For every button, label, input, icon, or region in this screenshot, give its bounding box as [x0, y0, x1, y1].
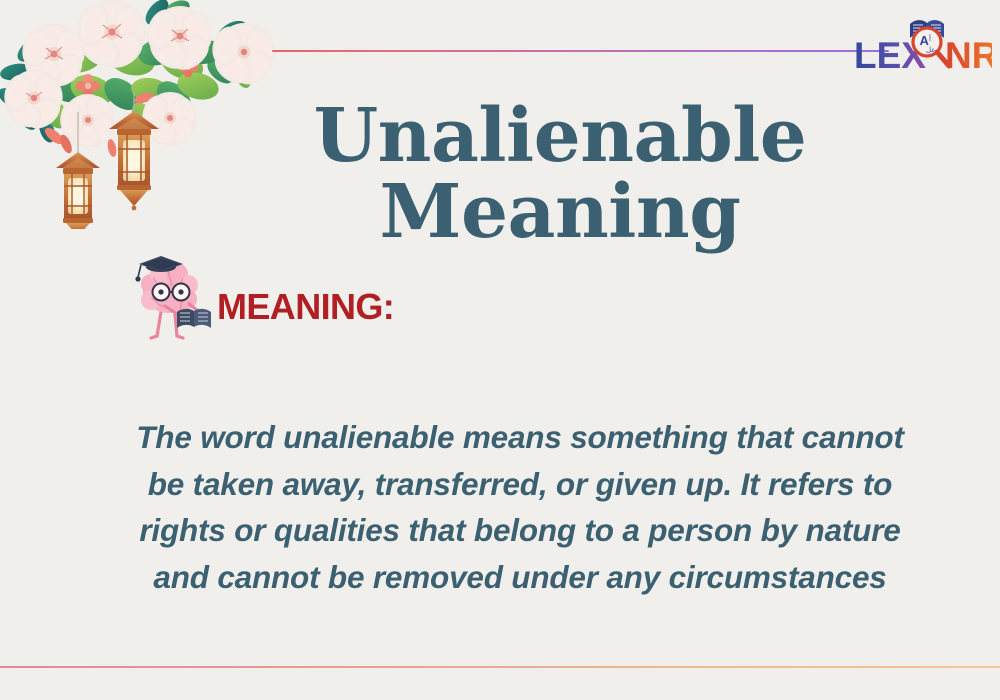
meaning-label: MEANING: — [217, 286, 394, 328]
brain-scholar-icon — [131, 256, 225, 344]
logo-nr-text: NR — [945, 35, 992, 74]
page-title-line-2: Meaning — [300, 174, 820, 250]
top-divider-rule — [272, 50, 889, 52]
held-book-icon — [177, 309, 211, 328]
bottom-divider-rule — [0, 666, 1000, 668]
hanging-lantern-left — [56, 152, 100, 229]
infographic-card: LEX A أ عل NR Unalienable Meaning — [0, 0, 1000, 700]
page-title: Unalienable Meaning — [300, 98, 820, 250]
svg-text:أ: أ — [929, 34, 931, 43]
svg-text:عل: عل — [926, 46, 935, 54]
definition-text: The word unalienable means something tha… — [120, 414, 920, 600]
meaning-heading-row: MEANING: — [131, 252, 394, 344]
brand-logo[interactable]: LEX A أ عل NR — [852, 12, 992, 74]
hanging-lantern-right — [109, 111, 159, 210]
floral-lantern-decoration — [0, 0, 292, 229]
page-title-line-1: Unalienable — [314, 93, 807, 179]
